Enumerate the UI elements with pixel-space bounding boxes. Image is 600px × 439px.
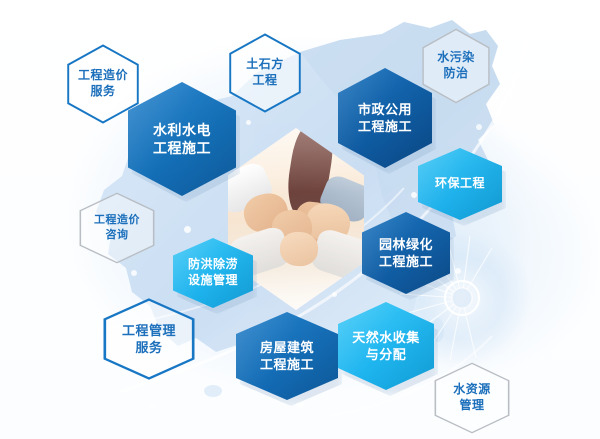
hex-label: 园林绿化 工程施工: [379, 236, 433, 270]
hex-label: 水污染 防治: [437, 50, 475, 82]
hex-shuiziyuan-guanli[interactable]: 水资源 管理: [433, 362, 511, 434]
hex-label: 环保工程: [435, 176, 485, 192]
hex-tianranshui-shouji[interactable]: 天然水收集 与分配: [338, 302, 434, 390]
hex-shuiwuran-fangzhi[interactable]: 水污染 防治: [421, 28, 491, 104]
hex-label: 天然水收集 与分配: [352, 329, 420, 363]
hex-yuanlin-lvhua[interactable]: 园林绿化 工程施工: [362, 212, 450, 294]
hex-label: 防洪除涝 设施管理: [188, 257, 238, 289]
infographic-canvas: 工程造价 服务 土石方 工程 水利水电 工程施工 市政公用 工程施工 水污染 防…: [0, 0, 600, 439]
hex-gongcheng-guanli-fuwu[interactable]: 工程管理 服务: [102, 298, 196, 380]
hex-label: 市政公用 工程施工: [358, 101, 412, 135]
hex-fangwu-jianzhu[interactable]: 房屋建筑 工程施工: [236, 312, 338, 400]
hex-label: 房屋建筑 工程施工: [260, 339, 314, 373]
hex-label: 工程管理 服务: [122, 322, 176, 356]
hex-shuili-shuidian[interactable]: 水利水电 工程施工: [128, 82, 236, 196]
hex-tushifang-gongcheng[interactable]: 土石方 工程: [228, 33, 302, 113]
hex-gongcheng-zaojia-zixun[interactable]: 工程造价 咨询: [78, 192, 156, 264]
hex-label: 水资源 管理: [453, 382, 491, 414]
hex-huanbao-gongcheng[interactable]: 环保工程: [418, 148, 502, 220]
hex-label: 工程造价 咨询: [94, 213, 140, 242]
hex-label: 水利水电 工程施工: [153, 121, 211, 158]
hex-label: 工程造价 服务: [78, 68, 128, 100]
hex-label: 土石方 工程: [246, 57, 284, 89]
